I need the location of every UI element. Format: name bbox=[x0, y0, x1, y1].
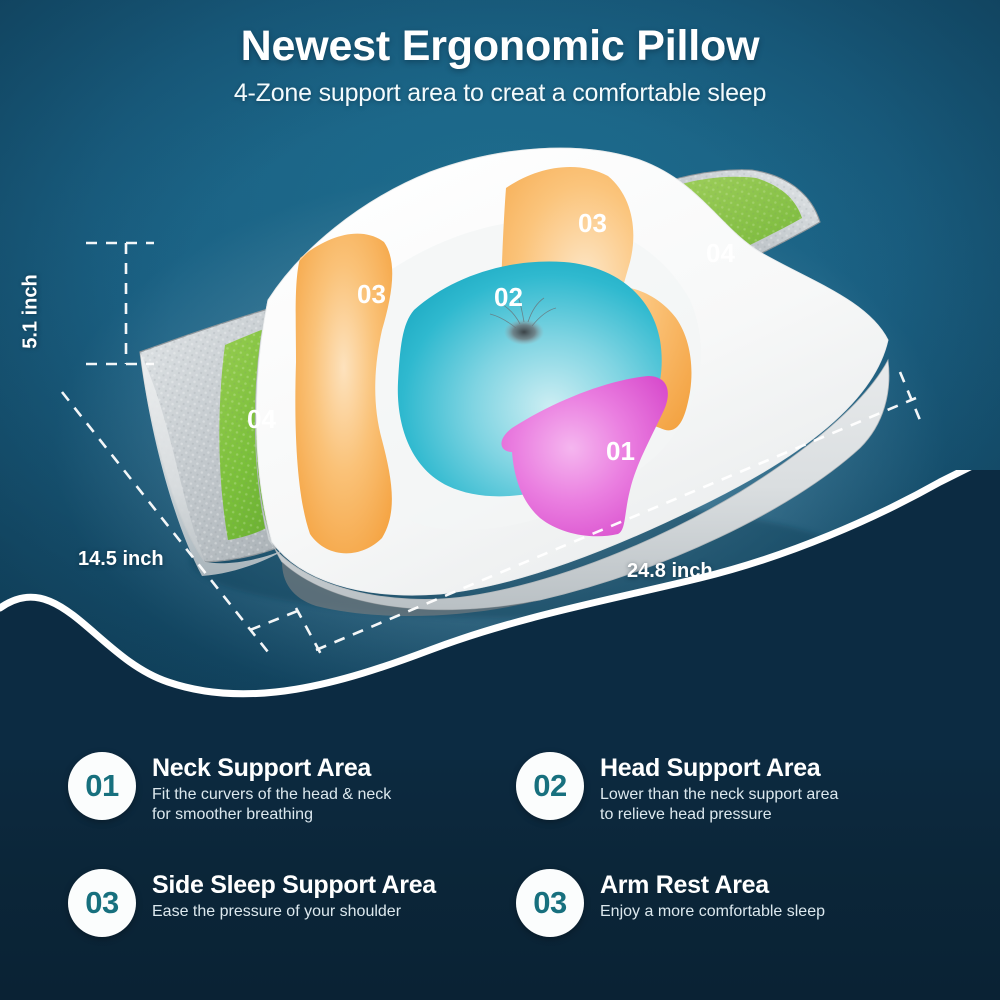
feature-badge-01: 01 bbox=[68, 752, 136, 820]
header: Newest Ergonomic Pillow 4-Zone support a… bbox=[0, 22, 1000, 108]
zone-label-01: 01 bbox=[606, 436, 635, 466]
page-subtitle: 4-Zone support area to creat a comfortab… bbox=[0, 79, 1000, 108]
wave-divider bbox=[0, 470, 1000, 760]
feature-description: Lower than the neck support area to reli… bbox=[600, 785, 838, 826]
feature-heading: Neck Support Area bbox=[152, 754, 391, 782]
feature-desc-line: for smoother breathing bbox=[152, 805, 391, 825]
feature-number: 02 bbox=[533, 768, 566, 804]
feature-number: 03 bbox=[85, 885, 118, 921]
zone-label-03-left: 03 bbox=[357, 279, 386, 309]
feature-item-neck-support: 01 Neck Support Area Fit the curvers of … bbox=[68, 752, 500, 865]
feature-desc-line: Fit the curvers of the head & neck bbox=[152, 785, 391, 805]
feature-badge-02: 02 bbox=[516, 752, 584, 820]
feature-desc-line: to relieve head pressure bbox=[600, 805, 838, 825]
feature-text: Head Support Area Lower than the neck su… bbox=[600, 752, 838, 826]
feature-desc-line: Lower than the neck support area bbox=[600, 785, 838, 805]
feature-description: Enjoy a more comfortable sleep bbox=[600, 902, 825, 922]
zone-label-04-right: 04 bbox=[706, 238, 735, 268]
feature-heading: Side Sleep Support Area bbox=[152, 871, 436, 899]
feature-list: 01 Neck Support Area Fit the curvers of … bbox=[0, 752, 1000, 982]
pillow-center-hole bbox=[504, 319, 544, 345]
dimension-height-label: 5.1 inch bbox=[20, 274, 43, 348]
zone-label-04-left: 04 bbox=[247, 404, 276, 434]
feature-badge-03: 03 bbox=[68, 869, 136, 937]
zone-label-03-right: 03 bbox=[578, 208, 607, 238]
page-title: Newest Ergonomic Pillow bbox=[0, 22, 1000, 71]
feature-desc-line: Ease the pressure of your shoulder bbox=[152, 902, 436, 922]
feature-text: Arm Rest Area Enjoy a more comfortable s… bbox=[600, 869, 825, 922]
feature-text: Side Sleep Support Area Ease the pressur… bbox=[152, 869, 436, 922]
feature-description: Fit the curvers of the head & neck for s… bbox=[152, 785, 391, 826]
zone-label-02: 02 bbox=[494, 282, 523, 312]
feature-number: 01 bbox=[85, 768, 118, 804]
feature-item-arm-rest: 03 Arm Rest Area Enjoy a more comfortabl… bbox=[516, 869, 948, 982]
feature-description: Ease the pressure of your shoulder bbox=[152, 902, 436, 922]
feature-badge-04: 03 bbox=[516, 869, 584, 937]
feature-number: 03 bbox=[533, 885, 566, 921]
feature-item-head-support: 02 Head Support Area Lower than the neck… bbox=[516, 752, 948, 865]
feature-heading: Head Support Area bbox=[600, 754, 838, 782]
feature-item-side-sleep-support: 03 Side Sleep Support Area Ease the pres… bbox=[68, 869, 500, 982]
feature-text: Neck Support Area Fit the curvers of the… bbox=[152, 752, 391, 826]
feature-heading: Arm Rest Area bbox=[600, 871, 825, 899]
feature-desc-line: Enjoy a more comfortable sleep bbox=[600, 902, 825, 922]
product-infographic: 03 03 02 01 04 04 5.1 bbox=[0, 0, 1000, 1000]
